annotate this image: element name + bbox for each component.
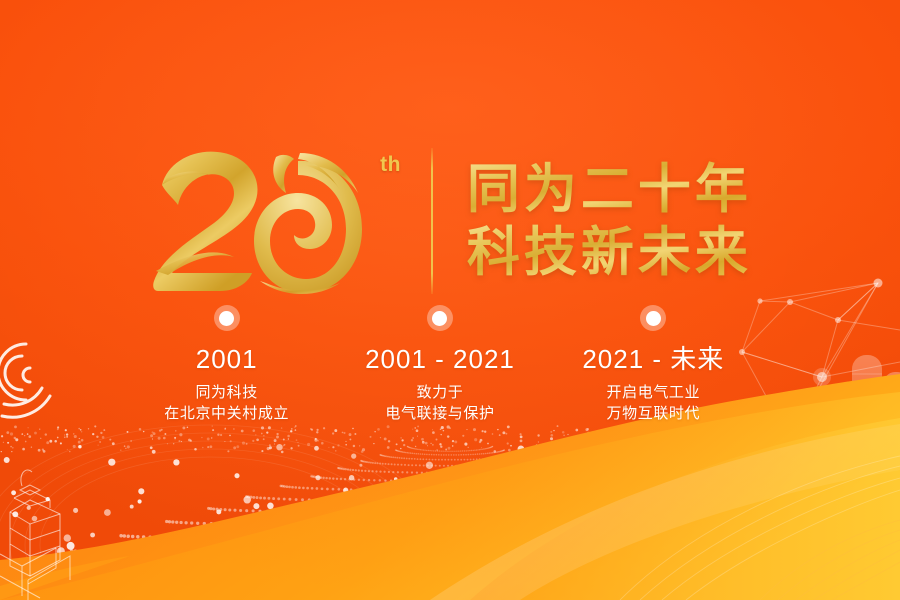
timeline-item-1: 2001 同为科技 在北京中关村成立 (120, 305, 333, 425)
headline-line-1: 同为二十年 (467, 161, 752, 218)
banner-canvas: th 同为二十年 科技新未来 2001 同为科技 在北京中关村成立 2001 -… (0, 0, 900, 600)
headline-line-2: 科技新未来 (467, 224, 752, 281)
timeline-caption-line-1: 同为科技 (195, 382, 257, 404)
timeline-item-3: 2021 - 未来 开启电气工业 万物互联时代 (547, 305, 760, 425)
timeline-dot-icon (427, 305, 453, 331)
vertical-divider (431, 148, 433, 294)
timeline-dot-icon (640, 305, 666, 331)
anniversary-20-flame-mark (148, 141, 378, 301)
milestone-timeline: 2001 同为科技 在北京中关村成立 2001 - 2021 致力于 电气联接与… (120, 305, 760, 425)
ordinal-suffix: th (380, 153, 401, 177)
timeline-caption-line-2: 电气联接与保护 (385, 403, 494, 425)
timeline-dot-icon (214, 305, 240, 331)
timeline-year: 2001 - 2021 (365, 345, 515, 374)
headline-block: 同为二十年 科技新未来 (467, 161, 752, 281)
timeline-caption-line-1: 开启电气工业 (607, 382, 701, 404)
timeline-year: 2021 - 未来 (582, 345, 724, 374)
timeline-caption-line-2: 在北京中关村成立 (164, 403, 289, 425)
anniversary-logo: th (148, 141, 401, 301)
banner-header: th 同为二十年 科技新未来 (0, 136, 900, 306)
timeline-item-2: 2001 - 2021 致力于 电气联接与保护 (333, 305, 546, 425)
timeline-year: 2001 (196, 345, 258, 374)
timeline-caption-line-1: 致力于 (417, 382, 464, 404)
timeline-caption-line-2: 万物互联时代 (607, 403, 701, 425)
